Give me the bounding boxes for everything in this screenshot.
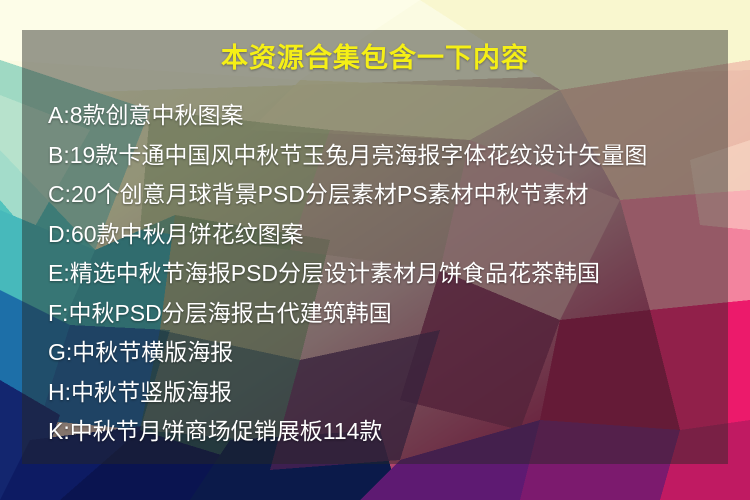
list-item: A:8款创意中秋图案 [48, 96, 722, 136]
list-item: F:中秋PSD分层海报古代建筑韩国 [48, 294, 722, 334]
list-item: B:19款卡通中国风中秋节玉兔月亮海报字体花纹设计矢量图 [48, 136, 722, 176]
list-item: D:60款中秋月饼花纹图案 [48, 215, 722, 255]
list-item: G:中秋节横版海报 [48, 333, 722, 373]
list-item: H:中秋节竖版海报 [48, 373, 722, 413]
list-item: E:精选中秋节海报PSD分层设计素材月饼食品花茶韩国 [48, 254, 722, 294]
page-title: 本资源合集包含一下内容 [22, 41, 728, 75]
list-item: C:20个创意月球背景PSD分层素材PS素材中秋节素材 [48, 175, 722, 215]
list-item: K:中秋节月饼商场促销展板114款 [48, 412, 722, 452]
content-overlay-panel: 本资源合集包含一下内容 A:8款创意中秋图案 B:19款卡通中国风中秋节玉兔月亮… [22, 30, 728, 464]
poster-canvas: 本资源合集包含一下内容 A:8款创意中秋图案 B:19款卡通中国风中秋节玉兔月亮… [0, 0, 750, 500]
resource-item-list: A:8款创意中秋图案 B:19款卡通中国风中秋节玉兔月亮海报字体花纹设计矢量图 … [48, 96, 722, 452]
